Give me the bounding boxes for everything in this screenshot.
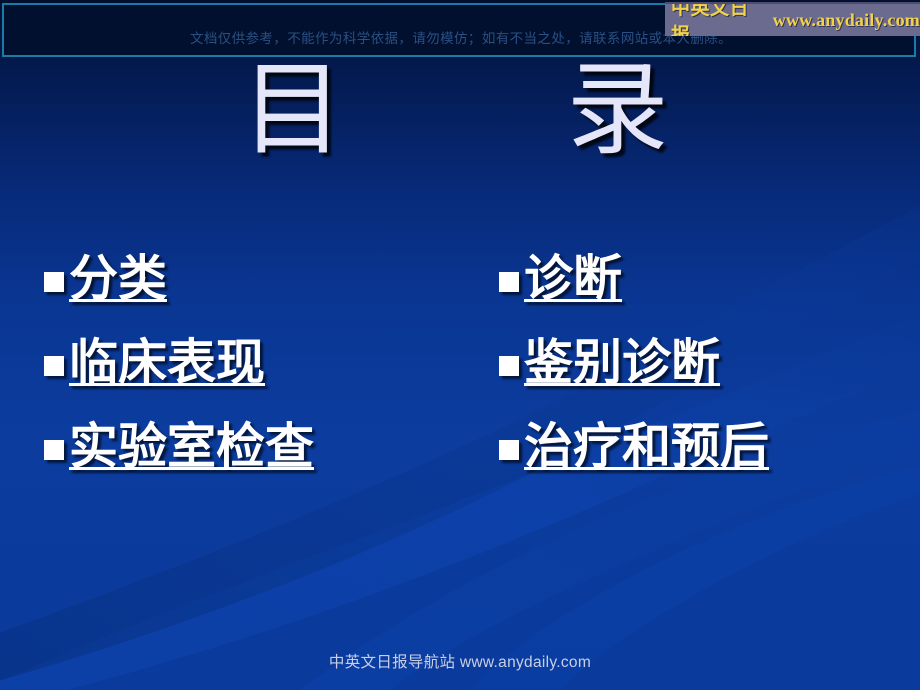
toc-item-laboratory-examination[interactable]: 实验室检查 — [44, 416, 474, 500]
toc-item-label: 分类 — [69, 248, 167, 310]
square-bullet-icon — [499, 440, 519, 460]
toc-item-treatment-and-prognosis[interactable]: 治疗和预后 — [499, 416, 920, 500]
watermark-brand-label: 中英文日报 — [671, 2, 766, 36]
toc-column-left: 分类 临床表现 实验室检查 — [44, 248, 474, 500]
toc-item-classification[interactable]: 分类 — [44, 248, 474, 332]
table-of-contents: 分类 临床表现 实验室检查 诊断 鉴别诊断 治疗和预后 — [0, 248, 920, 488]
square-bullet-icon — [44, 272, 64, 292]
footer-credit: 中英文日报导航站 www.anydaily.com — [0, 650, 920, 672]
square-bullet-icon — [44, 440, 64, 460]
toc-item-label: 实验室检查 — [69, 416, 314, 478]
square-bullet-icon — [499, 356, 519, 376]
toc-item-label: 治疗和预后 — [524, 416, 769, 478]
toc-item-differential-diagnosis[interactable]: 鉴别诊断 — [499, 332, 920, 416]
watermark-url-label: www.anydaily.com — [773, 10, 920, 31]
toc-item-clinical-manifestations[interactable]: 临床表现 — [44, 332, 474, 416]
toc-item-label: 鉴别诊断 — [524, 332, 720, 394]
toc-item-diagnosis[interactable]: 诊断 — [499, 248, 920, 332]
presentation-slide: 文档仅供参考，不能作为科学依据，请勿模仿；如有不当之处，请联系网站或本人删除。 … — [0, 0, 920, 690]
watermark-banner: 中英文日报 www.anydaily.com — [665, 2, 920, 36]
toc-column-right: 诊断 鉴别诊断 治疗和预后 — [499, 248, 920, 500]
toc-item-label: 临床表现 — [69, 332, 265, 394]
slide-title: 目 录 — [0, 56, 920, 168]
square-bullet-icon — [499, 272, 519, 292]
square-bullet-icon — [44, 356, 64, 376]
toc-item-label: 诊断 — [524, 248, 622, 310]
